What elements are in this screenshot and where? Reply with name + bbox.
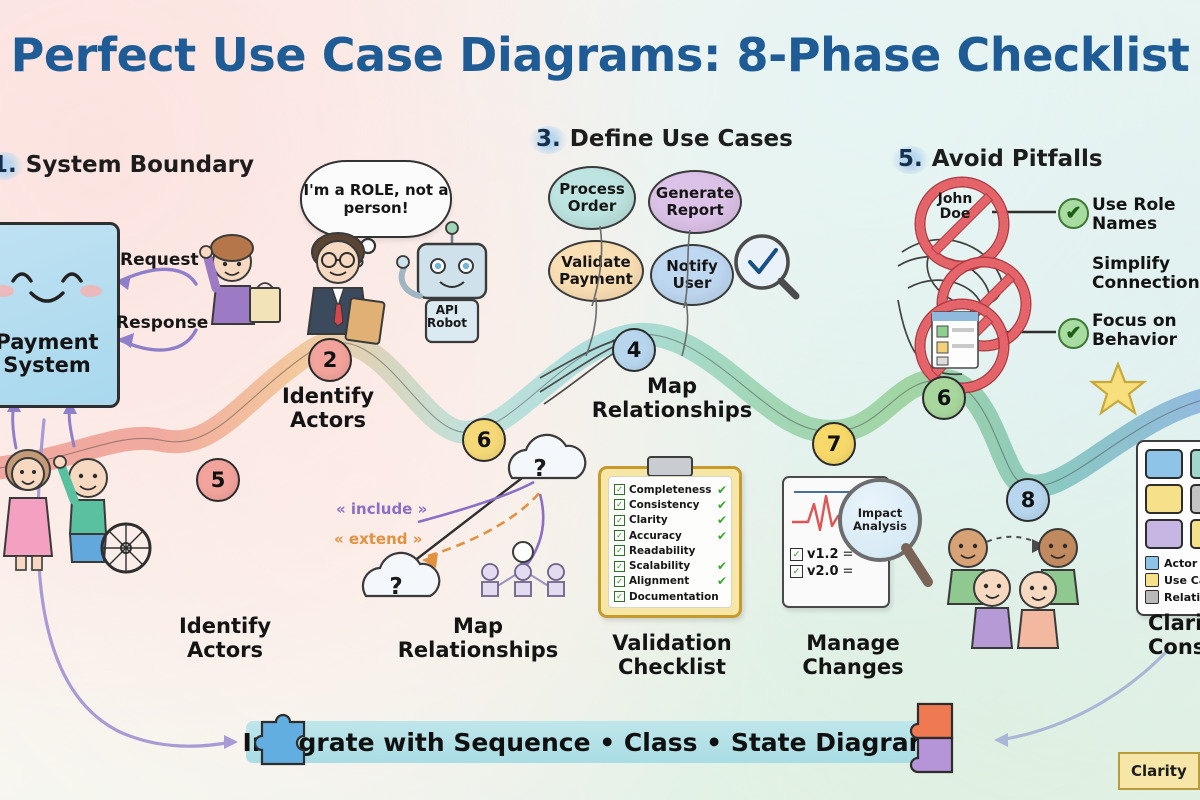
section-number-1: 1. bbox=[0, 152, 23, 180]
system-boundary-box: Payment System bbox=[0, 222, 120, 408]
diagram-legend: Actor = Use Case Relation bbox=[1136, 440, 1200, 616]
checklist-item: ✓Completeness✔ bbox=[614, 482, 727, 497]
phase-label-identify-actors-bottom: Identify Actors bbox=[170, 615, 280, 662]
legend-key-actor bbox=[1145, 556, 1159, 570]
use-case-validate-payment[interactable]: Validate Payment bbox=[548, 240, 644, 302]
role-thought-bubble: I'm a ROLE, not a person! bbox=[300, 160, 452, 238]
phase-marker-6b[interactable]: 6 bbox=[922, 376, 966, 420]
checklist-item: ✓Documentation bbox=[614, 589, 727, 604]
integration-banner: Integrate with Sequence • Class • State … bbox=[246, 721, 946, 763]
legend-swatch-actor bbox=[1145, 449, 1183, 479]
phase-label-map-relationships-top: Map Relationships bbox=[582, 375, 762, 422]
phase-marker-2[interactable]: 2 bbox=[308, 338, 352, 382]
legend-row-actor: Actor = bbox=[1145, 556, 1200, 570]
version-checkbox-icon[interactable]: ✓ bbox=[790, 548, 803, 561]
extend-relationship-label: « extend » bbox=[334, 530, 422, 548]
section-heading-define-use-cases: 3.Define Use Cases bbox=[530, 126, 793, 154]
tick-icon: ✔ bbox=[717, 498, 727, 512]
phase-marker-5[interactable]: 5 bbox=[196, 458, 240, 502]
impact-analysis-line2: Analysis bbox=[853, 520, 907, 533]
pitfall-good-item-1: Use Role Names bbox=[1092, 196, 1200, 234]
legend-swatch-usecase bbox=[1145, 484, 1183, 514]
tick-icon: ✔ bbox=[717, 483, 727, 497]
checklist-items: ✓Completeness✔ ✓Consistency✔ ✓Clarity✔ ✓… bbox=[608, 476, 732, 608]
checklist-item: ✓Consistency✔ bbox=[614, 497, 727, 512]
section-number-5: 5. bbox=[892, 146, 929, 174]
use-case-process-order[interactable]: Process Order bbox=[548, 166, 636, 230]
checkbox-icon[interactable]: ✓ bbox=[614, 561, 625, 572]
legend-key-usecase bbox=[1145, 573, 1159, 587]
api-robot-label: API Robot bbox=[424, 304, 470, 330]
section-title-5: Avoid Pitfalls bbox=[932, 146, 1103, 172]
phase-marker-8[interactable]: 8 bbox=[1006, 478, 1050, 522]
checkbox-icon[interactable]: ✓ bbox=[614, 545, 625, 556]
legend-swatch-generalize bbox=[1145, 519, 1183, 549]
checklist-item: ✓Readability bbox=[614, 543, 727, 558]
section-heading-system-boundary: 1.System Boundary bbox=[0, 152, 254, 180]
pitfall-check-icon-3: ✔ bbox=[1058, 318, 1089, 349]
clarity-ribbon: Clarity bbox=[1118, 752, 1200, 790]
phase-label-map-relationships-bottom: Map Relationships bbox=[388, 615, 568, 662]
phase-label-validation-checklist: Validation Checklist bbox=[602, 632, 742, 679]
section-heading-avoid-pitfalls: 5.Avoid Pitfalls bbox=[892, 146, 1103, 174]
section-number-3: 3. bbox=[530, 126, 567, 154]
legend-row-relation: Relation bbox=[1145, 590, 1200, 604]
version-checkbox-icon[interactable]: ✓ bbox=[790, 565, 803, 578]
tick-icon: ✔ bbox=[717, 529, 727, 543]
page-title: Perfect Use Case Diagrams: 8-Phase Check… bbox=[0, 28, 1200, 82]
request-arrow-label: Request bbox=[120, 250, 199, 270]
phase-label-identify-actors-top: Identify Actors bbox=[278, 385, 378, 432]
checklist-item: ✓Alignment✔ bbox=[614, 574, 727, 589]
pitfall-bad-actor-name: John Doe bbox=[926, 192, 984, 222]
legend-swatch-extend bbox=[1190, 519, 1200, 549]
impact-analysis-magnifier: Impact Analysis bbox=[838, 478, 922, 562]
section-title-3: Define Use Cases bbox=[570, 126, 793, 152]
phase-marker-6[interactable]: 6 bbox=[462, 418, 506, 462]
smiley-face-icon bbox=[0, 261, 117, 307]
phase-marker-7[interactable]: 7 bbox=[812, 422, 856, 466]
phase-marker-4[interactable]: 4 bbox=[612, 328, 656, 372]
pitfall-check-icon-1: ✔ bbox=[1058, 198, 1089, 229]
legend-row-usecase: Use Case bbox=[1145, 573, 1200, 587]
use-case-notify-user[interactable]: Notify User bbox=[650, 244, 734, 306]
use-case-generate-report[interactable]: Generate Report bbox=[648, 170, 742, 234]
checkbox-icon[interactable]: ✓ bbox=[614, 591, 625, 602]
checkbox-icon[interactable]: ✓ bbox=[614, 530, 625, 541]
legend-swatch-actor-2 bbox=[1190, 449, 1200, 479]
legend-swatch-relation bbox=[1190, 484, 1200, 514]
tick-icon: ✔ bbox=[717, 513, 727, 527]
checklist-item: ✓Clarity✔ bbox=[614, 513, 727, 528]
system-boundary-label: Payment System bbox=[0, 331, 117, 377]
version-row-2: ✓ v2.0 = bbox=[790, 564, 888, 579]
validation-checklist-clipboard: ✓Completeness✔ ✓Consistency✔ ✓Clarity✔ ✓… bbox=[598, 466, 742, 618]
pitfall-ui-form-crossed-icon bbox=[916, 300, 1008, 392]
checkbox-icon[interactable]: ✓ bbox=[614, 484, 625, 495]
phase-label-clarify-consistency: Clarify Consistency bbox=[1148, 612, 1200, 659]
section-title-1: System Boundary bbox=[26, 152, 254, 178]
checkbox-icon[interactable]: ✓ bbox=[614, 515, 625, 526]
phase-label-manage-changes: Manage Changes bbox=[788, 632, 918, 679]
clipboard-clasp-icon bbox=[647, 456, 693, 477]
response-arrow-label: Response bbox=[116, 313, 208, 333]
pitfall-good-item-3: Focus on Behavior bbox=[1092, 312, 1200, 350]
checklist-item: ✓Scalability✔ bbox=[614, 558, 727, 573]
checklist-item: ✓Accuracy✔ bbox=[614, 528, 727, 543]
include-relationship-label: « include » bbox=[336, 500, 427, 518]
checkbox-icon[interactable]: ✓ bbox=[614, 499, 625, 510]
tick-icon: ✔ bbox=[717, 559, 727, 573]
checkbox-icon[interactable]: ✓ bbox=[614, 576, 625, 587]
tick-icon: ✔ bbox=[717, 574, 727, 588]
legend-key-relation bbox=[1145, 590, 1159, 604]
pitfall-good-item-2: Simplify Connections bbox=[1092, 255, 1200, 293]
